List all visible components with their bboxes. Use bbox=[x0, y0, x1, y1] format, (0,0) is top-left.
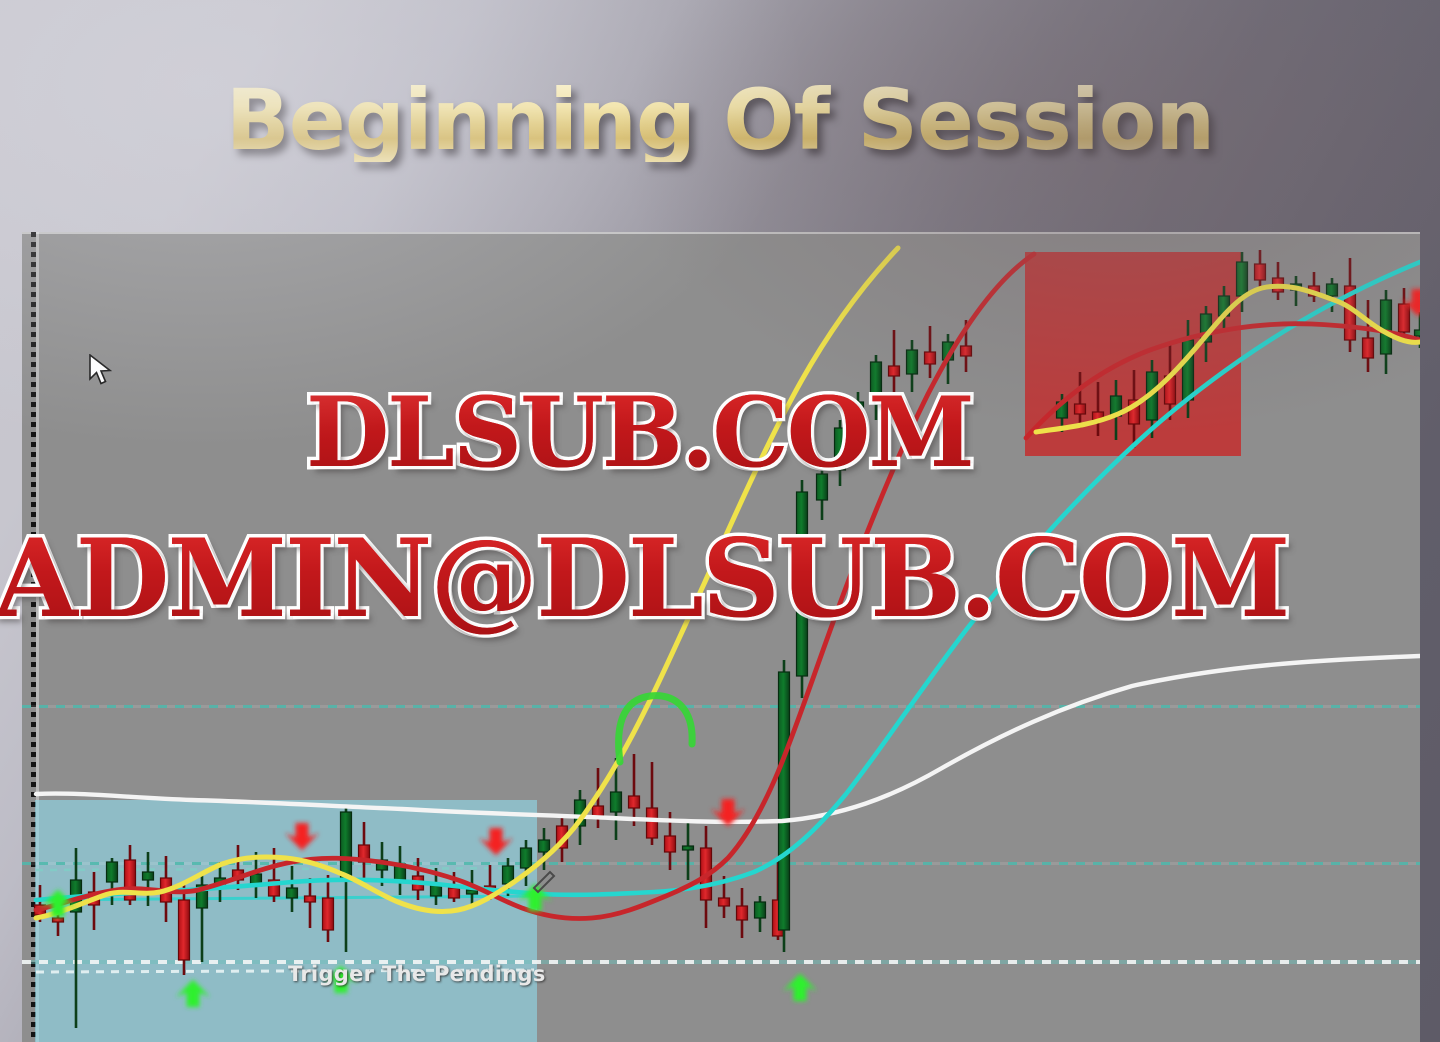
candlestick bbox=[53, 918, 64, 922]
candlestick bbox=[449, 888, 460, 898]
fast-ma-yellow-line-right bbox=[1036, 286, 1420, 432]
candlestick bbox=[467, 890, 478, 894]
candlestick bbox=[1363, 338, 1374, 358]
medium-ma-red-line-right bbox=[1026, 324, 1420, 438]
candlestick bbox=[305, 896, 316, 902]
candlestick bbox=[889, 366, 900, 376]
candlestick bbox=[647, 808, 658, 838]
green-oval-highlight bbox=[619, 696, 693, 762]
candlestick bbox=[341, 812, 352, 880]
candlestick bbox=[1075, 404, 1086, 414]
candlestick bbox=[179, 900, 190, 960]
candlestick bbox=[323, 898, 334, 930]
candlestick bbox=[629, 796, 640, 808]
candlestick bbox=[907, 350, 918, 374]
candlestick bbox=[1415, 330, 1421, 336]
candlestick bbox=[755, 902, 766, 918]
candlestick bbox=[1255, 264, 1266, 280]
pencil-annotation-icon bbox=[530, 868, 558, 894]
candlestick bbox=[539, 840, 550, 852]
candlestick bbox=[683, 846, 694, 850]
buy-arrow bbox=[783, 973, 817, 1001]
slide-canvas: Beginning Of Session bbox=[0, 0, 1440, 1042]
candlestick bbox=[107, 862, 118, 882]
candlestick bbox=[611, 792, 622, 812]
candlestick bbox=[1237, 262, 1248, 296]
baseline-ma-white-line bbox=[36, 656, 1420, 822]
candlestick bbox=[925, 352, 936, 364]
candlestick bbox=[665, 836, 676, 852]
candlestick bbox=[521, 848, 532, 868]
candlestick bbox=[1399, 304, 1410, 332]
buy-arrow bbox=[176, 979, 210, 1007]
page-title: Beginning Of Session bbox=[0, 78, 1440, 162]
candlestick bbox=[143, 872, 154, 880]
candlestick bbox=[719, 898, 730, 906]
candlestick bbox=[779, 672, 790, 930]
candlestick bbox=[1327, 284, 1338, 296]
candlestick bbox=[737, 906, 748, 920]
candlestick bbox=[1381, 300, 1392, 354]
mouse-pointer-icon bbox=[88, 354, 114, 386]
candlestick bbox=[593, 806, 604, 816]
sell-arrow bbox=[479, 828, 513, 856]
watermark-email: ADMIN@DLSUB.COM bbox=[0, 516, 1288, 642]
candlestick bbox=[287, 888, 298, 898]
candlestick bbox=[961, 346, 972, 356]
sell-arrow bbox=[285, 823, 319, 851]
watermark-site: DLSUB.COM bbox=[306, 376, 973, 489]
chart-label-trigger-the-pendings: Trigger The Pendings bbox=[288, 962, 546, 986]
